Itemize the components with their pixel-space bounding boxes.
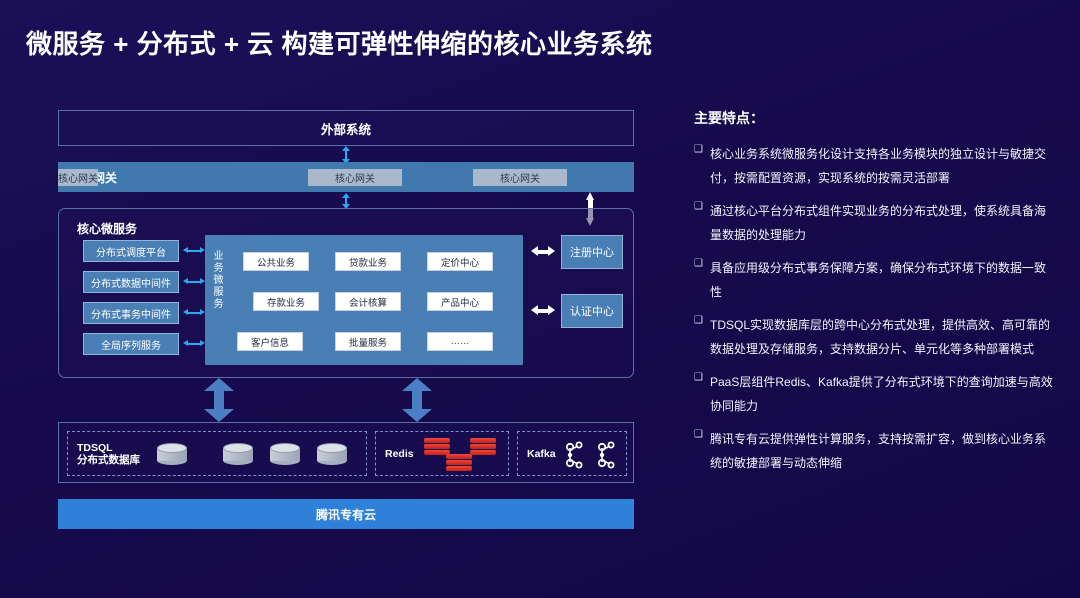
redis-layer (446, 454, 472, 459)
redis-layer (470, 450, 496, 455)
biz-card-label: 定价中心 (441, 255, 479, 269)
right-card-label: 认证中心 (570, 303, 614, 319)
feature-text: 具备应用级分布式事务保障方案，确保分布式环境下的数据一致性 (710, 256, 1054, 304)
slide-canvas: 微服务 + 分布式 + 云 构建可弹性伸缩的核心业务系统 外部系统 核心网关 核… (0, 0, 1080, 598)
left-card-dispatch-platform[interactable]: 分布式调度平台 (83, 240, 179, 262)
cylinder-top (270, 443, 300, 453)
architecture-diagram: 外部系统 核心网关 核心网关 核心网关 核心网关 核心微服务 分布式调度平台 分… (58, 110, 634, 535)
biz-card-public-business[interactable]: 公共业务 (243, 252, 309, 271)
arrow-head-right (548, 246, 555, 256)
feature-text: TDSQL实现数据库层的跨中心分布式处理，提供高效、高可靠的数据处理及存储服务，… (710, 313, 1054, 361)
biz-card-accounting[interactable]: 会计核算 (335, 292, 401, 311)
arrow-head-right (548, 305, 555, 315)
cylinder-top (223, 443, 253, 453)
connector-external-to-gateway (345, 151, 347, 159)
arrow-head-down (204, 409, 234, 422)
data-layer-container: TDSQL 分布式数据库 (58, 422, 634, 483)
core-microservice-label: 核心微服务 (77, 220, 137, 237)
kafka-node-icon (562, 441, 586, 469)
core-gateway-bar: 核心网关 核心网关 核心网关 核心网关 (58, 162, 634, 192)
redis-cube-icon (470, 438, 496, 462)
key-features-title: 主要特点： (694, 108, 1054, 128)
kafka-node-icon (594, 441, 618, 469)
feature-item: ❑ PaaS层组件Redis、Kafka提供了分布式环境下的查询加速与高效协同能… (694, 370, 1054, 418)
feature-text: 腾讯专有云提供弹性计算服务，支持按需扩容，做到核心业务系统的敏捷部署与动态伸缩 (710, 427, 1054, 475)
tdsql-cell: TDSQL 分布式数据库 (67, 431, 367, 476)
tdsql-label-line2: 分布式数据库 (77, 454, 140, 466)
right-card-auth-center[interactable]: 认证中心 (561, 294, 623, 328)
core-microservice-container: 核心微服务 分布式调度平台 分布式数据中间件 分布式事务中间件 全局序列服务 (58, 208, 634, 378)
kafka-cell: Kafka (517, 431, 627, 476)
redis-layer (470, 438, 496, 443)
database-cylinder-icon (270, 443, 300, 465)
biz-card-more[interactable]: …… (427, 332, 493, 351)
redis-layer (424, 444, 450, 449)
left-card-label: 分布式调度平台 (96, 244, 166, 259)
gateway-chip-1[interactable]: 核心网关 (308, 169, 402, 186)
tencent-private-cloud-label: 腾讯专有云 (316, 506, 376, 523)
redis-layer (470, 444, 496, 449)
redis-cell: Redis (375, 431, 509, 476)
link-arrow-left-4 (183, 340, 205, 347)
external-system-label: 外部系统 (321, 119, 371, 138)
database-cylinder-icon (223, 443, 253, 465)
page-title: 微服务 + 分布式 + 云 构建可弹性伸缩的核心业务系统 (26, 24, 653, 61)
bullet-square-icon: ❑ (694, 256, 710, 304)
left-card-data-middleware[interactable]: 分布式数据中间件 (83, 271, 179, 293)
arrow-shaft (412, 389, 422, 411)
biz-card-label: 存款业务 (267, 295, 305, 309)
arrow-head-down (402, 409, 432, 422)
feature-text: 核心业务系统微服务化设计支持各业务模块的独立设计与敏捷交付，按需配置资源，实现系… (710, 142, 1054, 190)
cylinder-top (317, 443, 347, 453)
biz-card-label: 贷款业务 (349, 255, 387, 269)
redis-label: Redis (385, 448, 414, 460)
biz-card-customer-info[interactable]: 客户信息 (237, 332, 303, 351)
link-arrow-registry (531, 246, 555, 257)
biz-card-label: 批量服务 (349, 335, 387, 349)
right-card-registry-center[interactable]: 注册中心 (561, 235, 623, 269)
core-to-data-arrow-left (204, 378, 234, 422)
feature-text: 通过核心平台分布式组件实现业务的分布式处理，使系统具备海量数据的处理能力 (710, 199, 1054, 247)
link-arrow-left-2 (183, 278, 205, 285)
biz-card-label: 会计核算 (349, 295, 387, 309)
core-to-data-arrow-right (402, 378, 432, 422)
biz-card-label: 公共业务 (257, 255, 295, 269)
arrow-shaft (214, 389, 224, 411)
feature-item: ❑ 腾讯专有云提供弹性计算服务，支持按需扩容，做到核心业务系统的敏捷部署与动态伸… (694, 427, 1054, 475)
database-cylinder-icon (157, 443, 187, 465)
redis-layer (446, 466, 472, 471)
kafka-label: Kafka (527, 448, 556, 460)
biz-card-loan-business[interactable]: 贷款业务 (335, 252, 401, 271)
left-card-label: 全局序列服务 (101, 337, 161, 352)
gateway-chip-2[interactable]: 核心网关 (473, 169, 567, 186)
arrow-shaft (188, 343, 200, 345)
redis-cube-icon (446, 454, 472, 478)
business-microservice-panel: 业务微服务 公共业务 贷款业务 定价中心 存款业务 会计核算 产品中心 客户信息… (205, 235, 523, 365)
connector-gateway-to-core (345, 198, 347, 204)
tencent-private-cloud-bar: 腾讯专有云 (58, 499, 634, 529)
biz-card-label: 客户信息 (251, 335, 289, 349)
redis-layer (424, 438, 450, 443)
gateway-chip-3[interactable]: 核心网关 (58, 169, 98, 186)
left-card-transaction-middleware[interactable]: 分布式事务中间件 (83, 302, 179, 324)
feature-item: ❑ 核心业务系统微服务化设计支持各业务模块的独立设计与敏捷交付，按需配置资源，实… (694, 142, 1054, 190)
biz-card-deposit-business[interactable]: 存款业务 (253, 292, 319, 311)
feature-item: ❑ 具备应用级分布式事务保障方案，确保分布式环境下的数据一致性 (694, 256, 1054, 304)
left-card-label: 分布式事务中间件 (91, 306, 171, 321)
biz-card-label: 产品中心 (441, 295, 479, 309)
feature-text: PaaS层组件Redis、Kafka提供了分布式环境下的查询加速与高效协同能力 (710, 370, 1054, 418)
left-card-label: 分布式数据中间件 (91, 275, 171, 290)
tdsql-label-line1: TDSQL (77, 442, 140, 454)
tdsql-label: TDSQL 分布式数据库 (77, 442, 140, 466)
feature-item: ❑ 通过核心平台分布式组件实现业务的分布式处理，使系统具备海量数据的处理能力 (694, 199, 1054, 247)
link-arrow-auth (531, 305, 555, 316)
bullet-square-icon: ❑ (694, 142, 710, 190)
redis-layer (446, 460, 472, 465)
database-cylinder-icon (317, 443, 347, 465)
business-microservice-label: 业务微服务 (212, 251, 225, 311)
bullet-square-icon: ❑ (694, 199, 710, 247)
arrow-shaft (188, 281, 200, 283)
bullet-square-icon: ❑ (694, 370, 710, 418)
right-card-label: 注册中心 (570, 244, 614, 260)
external-system-box: 外部系统 (58, 110, 634, 146)
link-arrow-left-1 (183, 247, 205, 254)
bullet-square-icon: ❑ (694, 313, 710, 361)
biz-card-pricing-center[interactable]: 定价中心 (427, 252, 493, 271)
arrow-shaft (188, 250, 200, 252)
biz-card-label: …… (451, 336, 470, 347)
biz-card-batch-service[interactable]: 批量服务 (335, 332, 401, 351)
feature-item: ❑ TDSQL实现数据库层的跨中心分布式处理，提供高效、高可靠的数据处理及存储服… (694, 313, 1054, 361)
cylinder-top (157, 443, 187, 453)
link-arrow-left-3 (183, 309, 205, 316)
biz-card-product-center[interactable]: 产品中心 (427, 292, 493, 311)
arrow-shaft (188, 312, 200, 314)
key-features-panel: 主要特点： ❑ 核心业务系统微服务化设计支持各业务模块的独立设计与敏捷交付，按需… (694, 108, 1054, 484)
left-card-global-sequence-service[interactable]: 全局序列服务 (83, 333, 179, 355)
bullet-square-icon: ❑ (694, 427, 710, 475)
